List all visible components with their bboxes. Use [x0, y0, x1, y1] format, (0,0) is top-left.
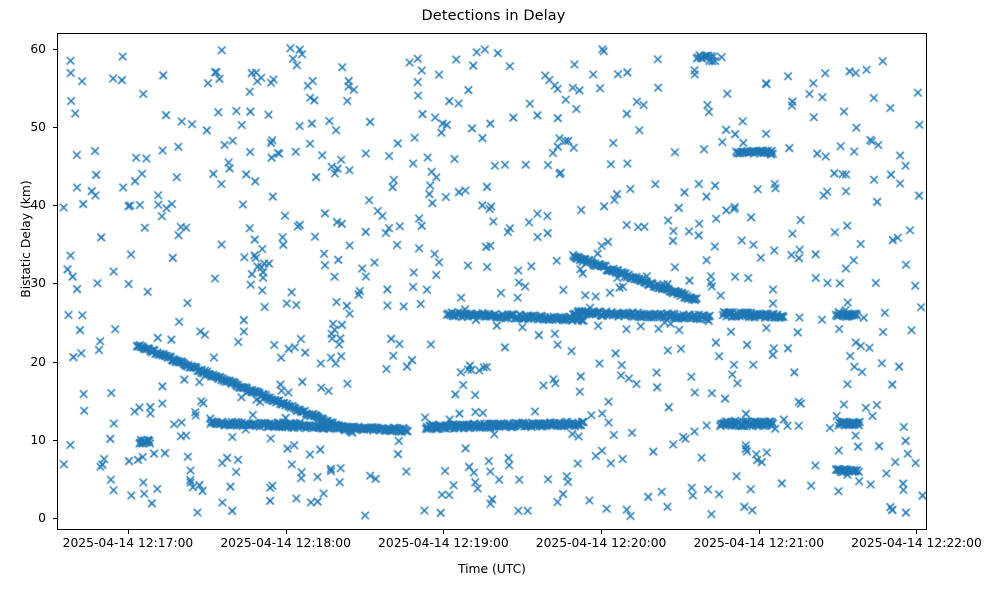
y-tick-label: 0: [0, 511, 46, 525]
y-tick-label: 10: [0, 433, 46, 447]
chart-title: Detections in Delay: [0, 8, 987, 24]
matplotlib-figure: Detections in Delay 2025-04-14 12:17:002…: [0, 0, 987, 590]
y-tick-mark: [53, 49, 57, 50]
y-axis-label: Bistatic Delay (km): [19, 94, 33, 384]
y-tick-label: 60: [0, 42, 46, 56]
x-tick-label: 2025-04-14 12:19:00: [378, 536, 509, 550]
x-tick-label: 2025-04-14 12:20:00: [536, 536, 667, 550]
x-tick-mark: [916, 530, 917, 534]
x-tick-mark: [759, 530, 760, 534]
x-tick-label: 2025-04-14 12:18:00: [220, 536, 351, 550]
x-tick-label: 2025-04-14 12:22:00: [851, 536, 982, 550]
x-tick-label: 2025-04-14 12:21:00: [693, 536, 824, 550]
x-tick-mark: [128, 530, 129, 534]
y-tick-mark: [53, 518, 57, 519]
y-tick-mark: [53, 283, 57, 284]
y-tick-mark: [53, 205, 57, 206]
x-axis-label: Time (UTC): [57, 562, 927, 576]
plot-area: [57, 33, 927, 530]
y-tick-mark: [53, 362, 57, 363]
x-tick-mark: [286, 530, 287, 534]
scatter-plot-canvas: [58, 34, 927, 530]
y-tick-mark: [53, 440, 57, 441]
y-tick-mark: [53, 127, 57, 128]
x-tick-mark: [601, 530, 602, 534]
x-tick-mark: [443, 530, 444, 534]
x-tick-label: 2025-04-14 12:17:00: [63, 536, 194, 550]
